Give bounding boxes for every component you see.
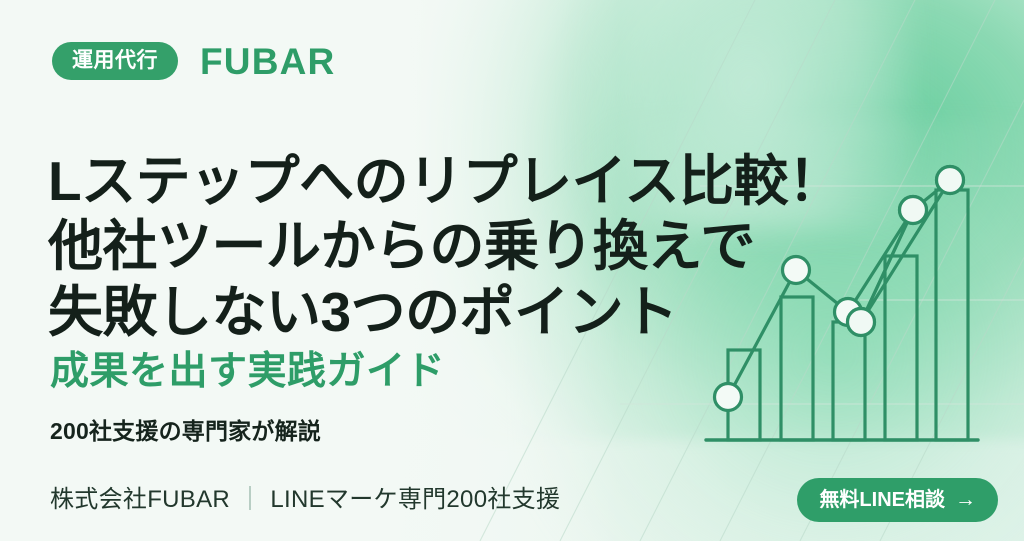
- headline-line-1: Lステップへのリプレイス比較！: [48, 149, 788, 214]
- promo-banner: 運用代行 FUBAR Lステップへのリプレイス比較！ 他社ツールからの乗り換えで…: [0, 0, 1024, 541]
- chart-bar-5: [936, 190, 968, 440]
- arrow-right-icon: →: [955, 489, 976, 510]
- footer-tagline: LINEマーケ専門200社支援: [270, 486, 560, 513]
- subheading: 成果を出す実践ガイド: [50, 352, 445, 391]
- chart-marker-5: [848, 309, 875, 336]
- footer-separator: ｜: [238, 486, 262, 513]
- chart-bar-3: [833, 322, 865, 440]
- brand-header: 運用代行 FUBAR: [52, 42, 335, 80]
- cta-label: 無料LINE相談: [819, 490, 945, 510]
- service-badge: 運用代行: [52, 42, 178, 80]
- headline-line-3: 失敗しない3つのポイント: [48, 280, 788, 345]
- free-line-consult-button[interactable]: 無料LINE相談 →: [797, 478, 998, 522]
- kicker-text: 200社支援の専門家が解説: [50, 420, 321, 443]
- headline-line-2: 他社ツールからの乗り換えで: [48, 214, 788, 279]
- footer-credits: 株式会社FUBAR｜LINEマーケ専門200社支援: [50, 488, 560, 512]
- chart-marker-6: [937, 167, 964, 194]
- chart-marker-4: [900, 197, 927, 224]
- page-title: Lステップへのリプレイス比較！ 他社ツールからの乗り換えで 失敗しない3つのポイ…: [48, 149, 788, 345]
- brand-name: FUBAR: [200, 43, 335, 80]
- chart-marker-1: [715, 384, 742, 411]
- chart-bar-4: [885, 256, 917, 440]
- footer-company: 株式会社FUBAR: [50, 486, 230, 513]
